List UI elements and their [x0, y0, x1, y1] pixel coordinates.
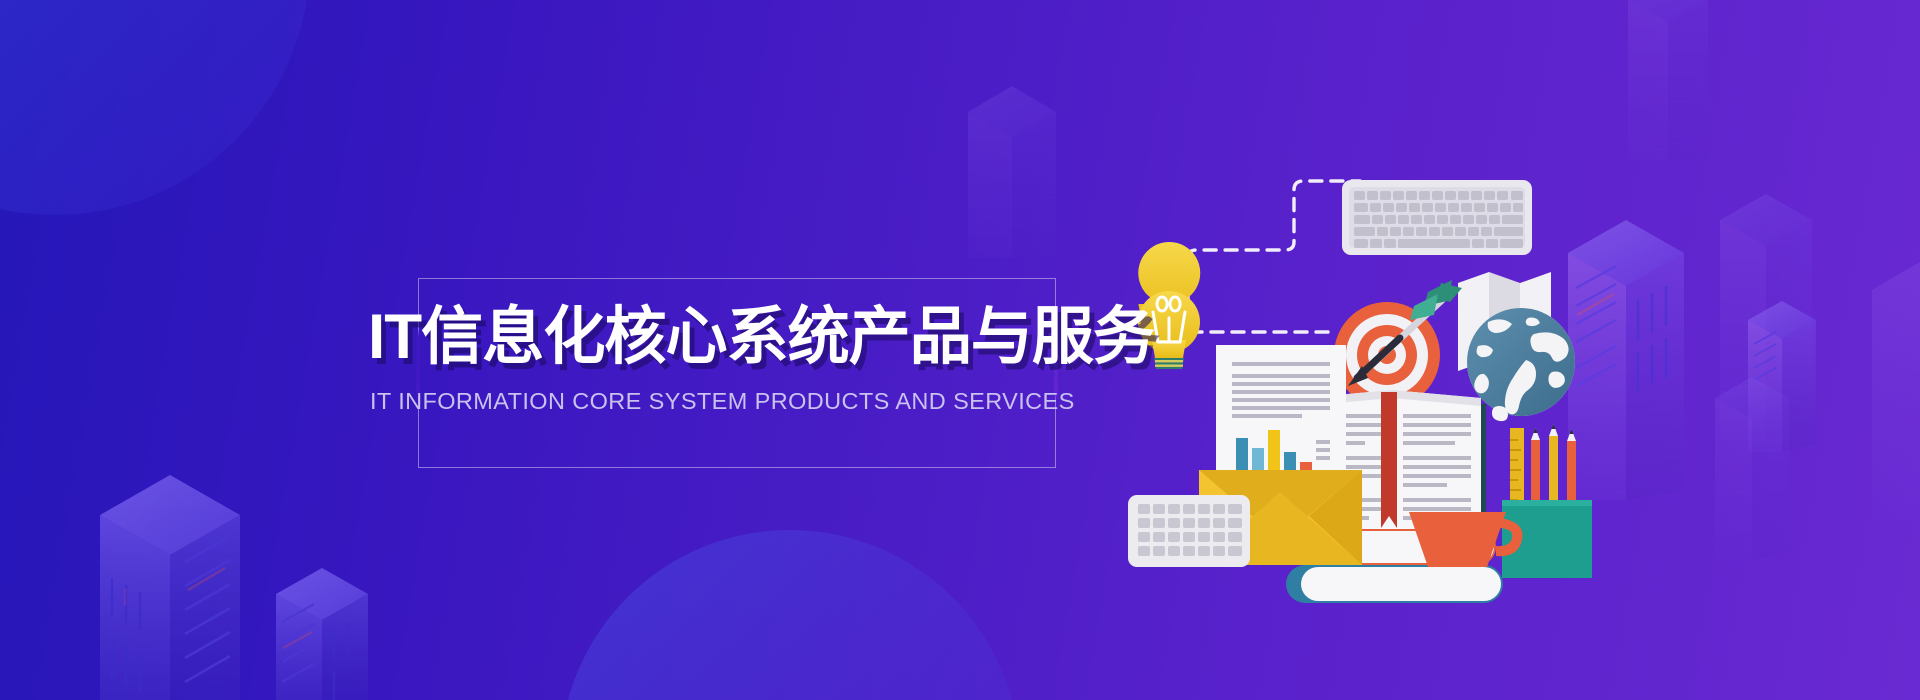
- keyboard-icon-bottom: [1128, 495, 1250, 567]
- hero-banner: IT信息化核心系统产品与服务 IT INFORMATION CORE SYSTE…: [0, 0, 1920, 700]
- headline-block: IT信息化核心系统产品与服务 IT INFORMATION CORE SYSTE…: [418, 278, 1056, 468]
- dashed-connector: [1188, 181, 1360, 332]
- keyboard-icon-top: [1342, 180, 1532, 255]
- page-title: IT信息化核心系统产品与服务: [368, 306, 1097, 369]
- page-subtitle: IT INFORMATION CORE SYSTEM PRODUCTS AND …: [370, 390, 1110, 414]
